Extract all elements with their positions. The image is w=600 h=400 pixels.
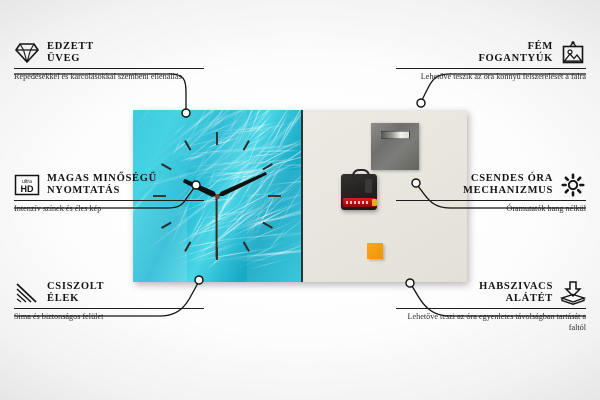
feature-header: HABSZIVACSALÁTÉT	[396, 280, 586, 306]
battery	[343, 198, 375, 207]
divider	[396, 308, 586, 309]
clock-tick	[217, 195, 281, 197]
feature-silent-mechanism: CSENDES ÓRAMECHANIZMUS Óramutatók hang n…	[396, 172, 586, 215]
press-down-icon	[560, 280, 586, 306]
feature-title: EDZETTÜVEG	[47, 41, 94, 66]
feature-title: FÉMFOGANTYÚK	[478, 41, 553, 66]
feature-header: CSISZOLTÉLEK	[14, 280, 204, 306]
feature-header: FÉMFOGANTYÚK	[396, 40, 586, 66]
feature-title: MAGAS MINŐSÉGŰNYOMTATÁS	[47, 173, 157, 198]
feature-header: EDZETTÜVEG	[14, 40, 204, 66]
feature-description: Lehetővé teszi az óra egyenletes távolsá…	[396, 312, 586, 333]
clock-center-cap	[215, 194, 220, 199]
feature-description: Sima és biztonságos felület	[14, 312, 204, 323]
feature-header: ultra HD MAGAS MINŐSÉGŰNYOMTATÁS	[14, 172, 204, 198]
divider	[14, 200, 204, 201]
feature-description: Intenzív színek és éles kép	[14, 204, 204, 215]
feature-description: Óramutatók hang nélkül	[396, 204, 586, 215]
feature-title: HABSZIVACSALÁTÉT	[479, 281, 553, 306]
feature-tempered-glass: EDZETTÜVEG Repedésekkel és karcolásokkal…	[14, 40, 204, 83]
mechanism-shaft	[365, 179, 372, 193]
feature-high-quality-print: ultra HD MAGAS MINŐSÉGŰNYOMTATÁS Intenzí…	[14, 172, 204, 215]
feature-description: Lehetővé teszik az óra könnyű felszerelé…	[396, 72, 586, 83]
diamond-icon	[14, 40, 40, 66]
clock-tick	[216, 132, 218, 196]
gear-icon	[560, 172, 586, 198]
hanger-slot	[380, 131, 410, 139]
svg-text:HD: HD	[21, 184, 34, 194]
divider	[396, 200, 586, 201]
divider	[396, 68, 586, 69]
divider	[14, 68, 204, 69]
feature-metal-handle: FÉMFOGANTYÚK Lehetővé teszik az óra könn…	[396, 40, 586, 83]
feature-description: Repedésekkel és karcolásokkal szembeni e…	[14, 72, 204, 83]
picture-frame-icon	[560, 40, 586, 66]
foam-pad	[367, 243, 383, 259]
feature-foam-backing: HABSZIVACSALÁTÉT Lehetővé teszi az óra e…	[396, 280, 586, 333]
battery-label	[346, 201, 368, 204]
ultra-hd-icon: ultra HD	[14, 172, 40, 198]
infographic-stage: EDZETTÜVEG Repedésekkel és karcolásokkal…	[0, 0, 600, 400]
feature-polished-edges: CSISZOLTÉLEK Sima és biztonságos felület	[14, 280, 204, 323]
clock-mechanism	[341, 174, 377, 210]
metal-hanger-plate	[371, 123, 419, 170]
feature-title: CSENDES ÓRAMECHANIZMUS	[463, 173, 553, 198]
divider	[14, 308, 204, 309]
feature-header: CSENDES ÓRAMECHANIZMUS	[396, 172, 586, 198]
polished-edges-icon	[14, 280, 40, 306]
feature-title: CSISZOLTÉLEK	[47, 281, 104, 306]
clock-second-hand	[216, 196, 218, 258]
mechanism-hanging-loop	[352, 169, 370, 179]
